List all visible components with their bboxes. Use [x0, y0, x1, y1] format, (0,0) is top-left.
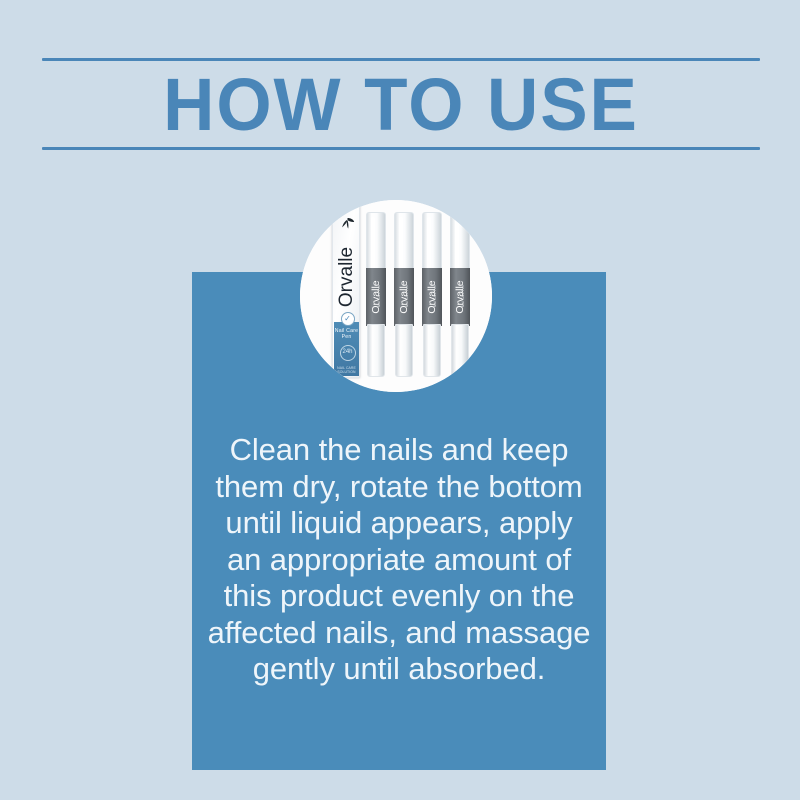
pen-subtitle-text: Nail Care Pen: [430, 275, 440, 317]
pen-body: [451, 324, 469, 377]
pen-subtitle-text: Nail Care Pen: [402, 275, 412, 317]
pen-label: Orvalle Nail Care Pen: [422, 268, 442, 326]
pen-body: [423, 324, 441, 377]
product-box: Orvalle ✓ Nail Care Pen 24h NAIL CARE SO…: [332, 206, 360, 378]
pen-label: Orvalle Nail Care Pen: [366, 268, 386, 326]
pen-label: Orvalle Nail Care Pen: [394, 268, 414, 326]
page-title: HOW TO USE: [56, 62, 745, 147]
pen-body: [395, 324, 413, 377]
pen-subtitle-text: Nail Care Pen: [458, 275, 468, 317]
pen-applicator: Orvalle Nail Care Pen: [422, 212, 442, 377]
duration-seal-icon: 24h: [340, 345, 356, 361]
header-rule-bottom: [42, 147, 760, 150]
pen-applicator: Orvalle Nail Care Pen: [450, 212, 470, 377]
pen-body: [367, 324, 385, 377]
pen-applicator: Orvalle Nail Care Pen: [366, 212, 386, 377]
product-box-subtitle: Nail Care Pen: [334, 328, 359, 340]
page-header: HOW TO USE: [42, 58, 760, 150]
product-box-footnote: NAIL CARE SOLUTION: [334, 366, 359, 374]
check-icon: ✓: [341, 312, 355, 326]
header-rule-top: [42, 58, 760, 61]
instruction-body-text: Clean the nails and keep them dry, rotat…: [206, 432, 592, 688]
product-photo: Orvalle ✓ Nail Care Pen 24h NAIL CARE SO…: [300, 200, 492, 392]
product-photo-circle: Orvalle ✓ Nail Care Pen 24h NAIL CARE SO…: [300, 200, 492, 392]
pen-group: Orvalle Nail Care Pen Orvalle Nail Care …: [366, 212, 474, 377]
pen-applicator: Orvalle Nail Care Pen: [394, 212, 414, 377]
product-box-blue-label: ✓ Nail Care Pen 24h NAIL CARE SOLUTION: [334, 322, 359, 376]
pen-label: Orvalle Nail Care Pen: [450, 268, 470, 326]
pen-subtitle-text: Nail Care Pen: [374, 275, 384, 317]
